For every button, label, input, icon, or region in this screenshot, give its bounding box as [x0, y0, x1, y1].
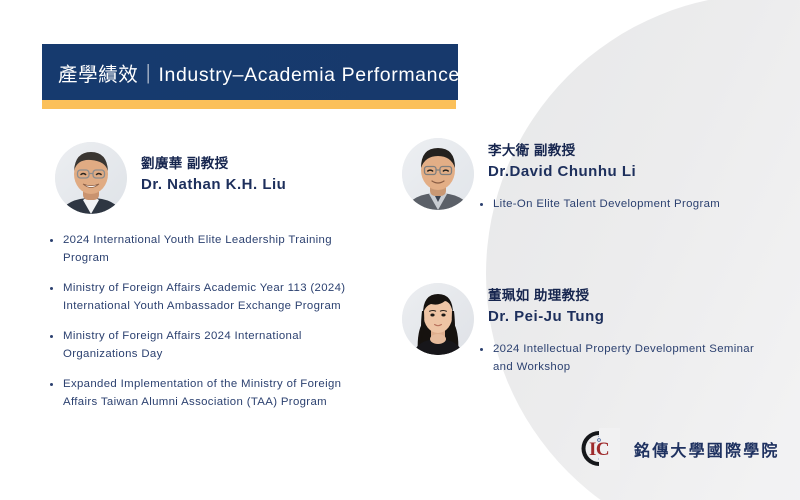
list-item: Ministry of Foreign Affairs 2024 Interna… — [48, 328, 348, 363]
mcu-ic-logo-icon: IC — [578, 428, 620, 470]
list-item: 2024 International Youth Elite Leadershi… — [48, 232, 348, 267]
portrait-pei-ju-tung-image — [402, 283, 474, 355]
footer-branding: IC 銘傳大學國際學院 — [578, 428, 780, 470]
person-card-david-li: 李大衛 副教授 Dr.David Chunhu Li — [402, 138, 742, 218]
list-item: Ministry of Foreign Affairs Academic Yea… — [48, 280, 348, 315]
portrait-nathan-liu-image — [55, 142, 127, 214]
person-names-nathan-liu: 劉廣華 副教授 Dr. Nathan K.H. Liu — [141, 154, 286, 196]
person-name-cn: 李大衛 副教授 — [488, 141, 636, 161]
person-name-cn: 劉廣華 副教授 — [141, 154, 286, 174]
portrait-david-li-image — [402, 138, 474, 210]
title-accent-bar — [42, 100, 456, 109]
person-names-pei-ju-tung: 董珮如 助理教授 Dr. Pei-Ju Tung — [488, 286, 604, 328]
person-name-en: Dr. Nathan K.H. Liu — [141, 174, 286, 196]
avatar-pei-ju-tung — [402, 283, 474, 355]
page-title: 產學績效｜Industry–Academia Performance — [58, 58, 460, 87]
person-names-david-li: 李大衛 副教授 Dr.David Chunhu Li — [488, 141, 636, 183]
person-card-pei-ju-tung: 董珮如 助理教授 Dr. Pei-Ju Tung — [402, 283, 742, 363]
slide-canvas: 產學績效｜Industry–Academia Performance — [0, 0, 800, 500]
background-circle-decoration — [486, 0, 800, 500]
achievement-list-nathan-liu: 2024 International Youth Elite Leadershi… — [48, 232, 348, 424]
list-item: Expanded Implementation of the Ministry … — [48, 376, 348, 411]
title-bar: 產學績效｜Industry–Academia Performance — [42, 44, 458, 100]
page-title-block: 產學績效｜Industry–Academia Performance — [42, 44, 458, 109]
person-name-en: Dr. Pei-Ju Tung — [488, 306, 604, 328]
svg-text:IC: IC — [589, 439, 609, 460]
person-card-nathan-liu: 劉廣華 副教授 Dr. Nathan K.H. Liu — [55, 142, 355, 222]
avatar-david-li — [402, 138, 474, 210]
avatar-nathan-liu — [55, 142, 127, 214]
person-name-en: Dr.David Chunhu Li — [488, 161, 636, 183]
organization-name: 銘傳大學國際學院 — [634, 437, 780, 461]
person-name-cn: 董珮如 助理教授 — [488, 286, 604, 306]
